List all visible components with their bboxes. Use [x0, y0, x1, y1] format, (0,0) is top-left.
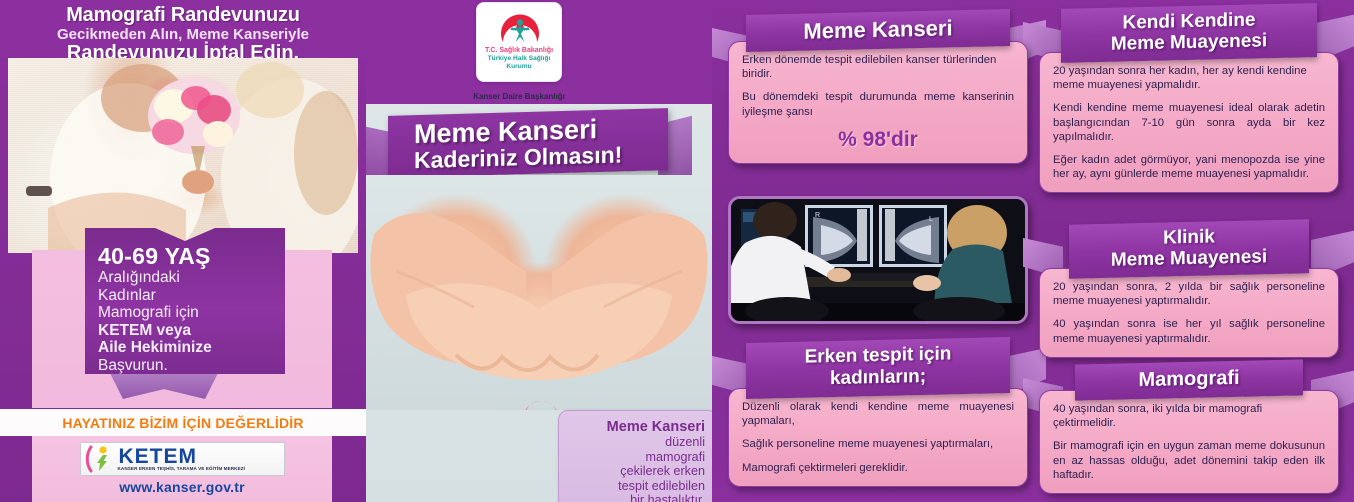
card-title-band: Kendi Kendine Meme Muayenesi — [1061, 3, 1317, 63]
ministry-caption: Kanser Daire Başkanlığı — [446, 92, 592, 101]
ketem-wordmark: KETEM — [119, 447, 246, 466]
center-banner-line2: Kaderiniz Olmasın! — [414, 141, 668, 172]
card-title-line-0: Mamografi — [1089, 365, 1289, 394]
card-paragraph-0: Erken dönemde tespit edilebilen kanser t… — [742, 53, 1014, 81]
poster-canvas: Mamografi Randevunuzu Gecikmeden Alın, M… — [0, 0, 1354, 502]
card-paragraph-2: Eğer kadın adet görmüyor, yani menopozda… — [1053, 153, 1325, 181]
age-line-6: Aile Hekiminize — [98, 339, 285, 357]
ministry-line2: Türkiye Halk Sağlığı — [477, 55, 561, 63]
card-klinik-meme-muayenesi: Klinik Meme Muayenesi 20 yaşından sonra,… — [1039, 222, 1339, 358]
age-line-7: Başvurun. — [98, 357, 285, 375]
crescent-star-icon — [477, 6, 563, 52]
card-mamografi: Mamografi 40 yaşından sonra, iki yılda b… — [1039, 362, 1339, 494]
center-info-card: Meme Kanseri düzenli mamografi çekilerek… — [558, 410, 712, 502]
ketem-website-url[interactable]: www.kanser.gov.tr — [32, 479, 332, 495]
card-kendi-kendine-meme-muayenesi: Kendi Kendine Meme Muayenesi 20 yaşından… — [1039, 6, 1339, 193]
center-info-title: Meme Kanseri — [569, 419, 705, 435]
center-info-line4: tespit edilebilen — [569, 479, 705, 494]
right-panel: Meme Kanseri Erken dönemde tespit edileb… — [712, 0, 1354, 502]
card-paragraph-1: Kendi kendine meme muayenesi ideal olara… — [1053, 101, 1325, 144]
card-paragraph-0: 20 yaşından sonra her kadın, her ay kend… — [1053, 64, 1325, 92]
slogan-strip: HAYATINIZ BİZİM İÇİN DEĞERLİDİR — [0, 409, 366, 436]
ketem-figure-icon — [84, 444, 118, 474]
card-title-band: Erken tespit için kadınların; — [746, 337, 1010, 399]
ministry-line1: T.C. Sağlık Bakanlığı — [477, 47, 561, 54]
age-line-5: KETEM veya — [98, 322, 285, 340]
card-body: 20 yaşından sonra her kadın, her ay kend… — [1039, 52, 1339, 193]
card-body: Erken dönemde tespit edilebilen kanser t… — [728, 41, 1028, 164]
mammogram-scene-shapes: R L — [731, 199, 1025, 321]
card-paragraph-1: Sağlık personeline meme muayenesi yaptır… — [742, 437, 1014, 451]
card-body: Düzenli olarak kendi kendine meme muayen… — [728, 388, 1028, 487]
card-title-line-1: Meme Muayenesi — [1075, 29, 1303, 55]
survival-rate-highlight: % 98'dir — [742, 128, 1014, 152]
center-banner: Meme Kanseri Kaderiniz Olmasın! — [388, 108, 668, 178]
age-line-3: Kadınlar — [98, 287, 285, 305]
left-header-line1: Mamografi Randevunuzu — [0, 5, 366, 26]
doctor-and-patient-reviewing-mammogram-photo: R L — [728, 196, 1028, 324]
center-info-line5: bir hastalıktır. — [569, 493, 705, 502]
age-line-4: Mamografi için — [98, 304, 285, 322]
svg-text:R: R — [815, 212, 820, 219]
left-header: Mamografi Randevunuzu Gecikmeden Alın, M… — [0, 0, 366, 57]
card-body: 40 yaşından sonra, iki yılda bir mamogra… — [1039, 390, 1339, 494]
card-title-line-1: kadınların; — [760, 364, 996, 391]
card-body: 20 yaşından sonra, 2 yılda bir sağlık pe… — [1039, 268, 1339, 358]
center-info-line1: düzenli — [569, 435, 705, 450]
left-header-line2: Gecikmeden Alın, Meme Kanseriyle — [0, 26, 366, 43]
card-title-band: Mamografi — [1075, 359, 1303, 400]
age-recommendation-banner: 40-69 YAŞ Aralığındaki Kadınlar Mamograf… — [85, 228, 285, 374]
ministry-of-health-logo: T.C. Sağlık Bakanlığı Türkiye Halk Sağlı… — [476, 2, 562, 82]
card-paragraph-0: Düzenli olarak kendi kendine meme muayen… — [742, 400, 1014, 428]
card-paragraph-1: 40 yaşından sonra ise her yıl sağlık per… — [1053, 317, 1325, 345]
age-range-label: 40-69 YAŞ — [98, 244, 285, 269]
couple-with-flowers-photo — [8, 58, 358, 253]
ketem-subtitle: KANSER ERKEN TEŞHİS, TARAMA VE EĞİTİM ME… — [118, 466, 246, 472]
card-title-band: Klinik Meme Muayenesi — [1069, 219, 1309, 278]
card-title-line-0: Meme Kanseri — [760, 14, 996, 44]
couple-photo-shapes — [8, 58, 358, 253]
right-column-a: Meme Kanseri Erken dönemde tespit edileb… — [728, 0, 1028, 502]
hands-shapes — [366, 175, 712, 410]
pink-awareness-ribbon-icon — [510, 397, 572, 410]
logo-field: KETEM KANSER ERKEN TEŞHİS, TARAMA VE EĞİ… — [32, 436, 332, 502]
card-erken-tespit: Erken tespit için kadınların; Düzenli ol… — [728, 340, 1028, 487]
center-info-line3: çekilerek erken — [569, 464, 705, 479]
center-panel: T.C. Sağlık Bakanlığı Türkiye Halk Sağlı… — [366, 0, 712, 502]
card-paragraph-0: 40 yaşından sonra, iki yılda bir mamogra… — [1053, 402, 1325, 430]
card-title-band: Meme Kanseri — [746, 9, 1010, 52]
age-line-2: Aralığındaki — [98, 269, 285, 287]
card-meme-kanseri: Meme Kanseri Erken dönemde tespit edileb… — [728, 12, 1028, 164]
right-column-b: Kendi Kendine Meme Muayenesi 20 yaşından… — [1039, 0, 1345, 502]
slogan-text: HAYATINIZ BİZİM İÇİN DEĞERLİDİR — [62, 415, 303, 431]
ketem-logo: KETEM KANSER ERKEN TEŞHİS, TARAMA VE EĞİ… — [80, 442, 285, 476]
card-paragraph-2: Mamografi çektirmeleri gereklidir. — [742, 461, 1014, 475]
card-paragraph-1: Bu dönemdeki tespit durumunda meme kanse… — [742, 90, 1014, 118]
svg-text:L: L — [929, 216, 933, 223]
center-info-line2: mamografi — [569, 450, 705, 465]
hands-holding-pink-ribbon-photo — [366, 175, 712, 410]
ministry-line3: Kurumu — [477, 63, 561, 71]
card-title-line-1: Meme Muayenesi — [1083, 246, 1295, 272]
card-paragraph-1: Bir mamografi için en uygun zaman meme d… — [1053, 439, 1325, 482]
card-paragraph-0: 20 yaşından sonra, 2 yılda bir sağlık pe… — [1053, 280, 1325, 308]
left-panel: Mamografi Randevunuzu Gecikmeden Alın, M… — [0, 0, 366, 502]
